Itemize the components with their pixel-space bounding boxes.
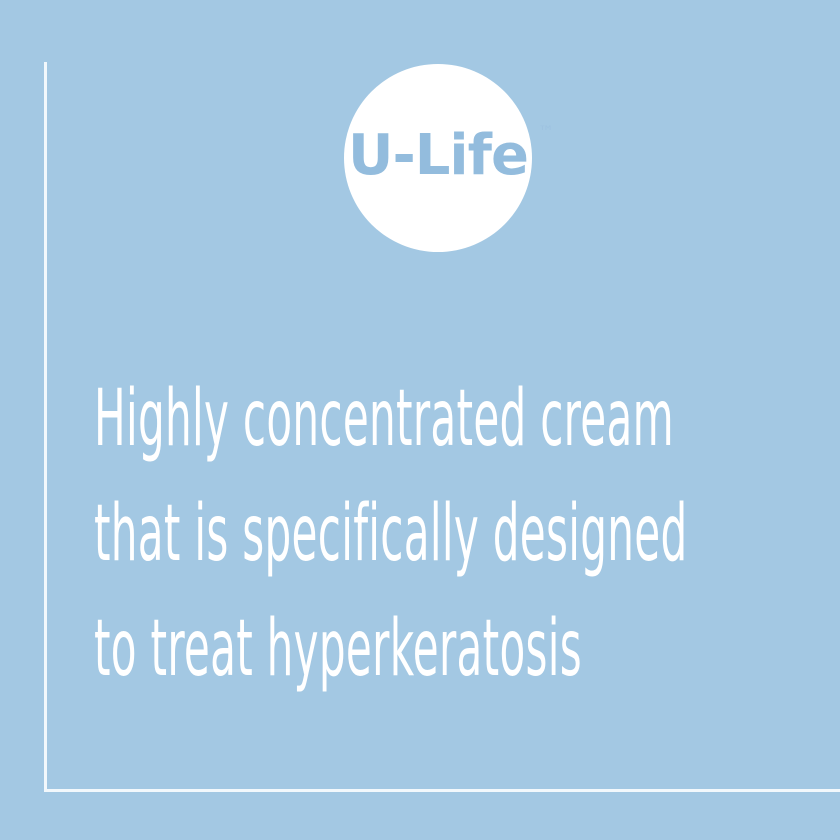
logo-wordmark: U-Life ™ (348, 128, 528, 184)
headline-line-1: Highly concentrated cream (94, 362, 514, 477)
headline-line-2: that is specifically designed (94, 477, 514, 592)
logo-wordmark-text: U-Life (348, 123, 528, 188)
trademark-symbol: ™ (538, 124, 554, 140)
headline-block: Highly concentrated cream that is specif… (94, 362, 794, 707)
frame-horizontal-line (44, 789, 840, 792)
headline-line-3: to treat hyperkeratosis (94, 592, 514, 707)
frame-vertical-line (44, 62, 47, 792)
logo-badge: U-Life ™ (344, 64, 532, 252)
promo-card: U-Life ™ Highly concentrated cream that … (0, 0, 840, 840)
